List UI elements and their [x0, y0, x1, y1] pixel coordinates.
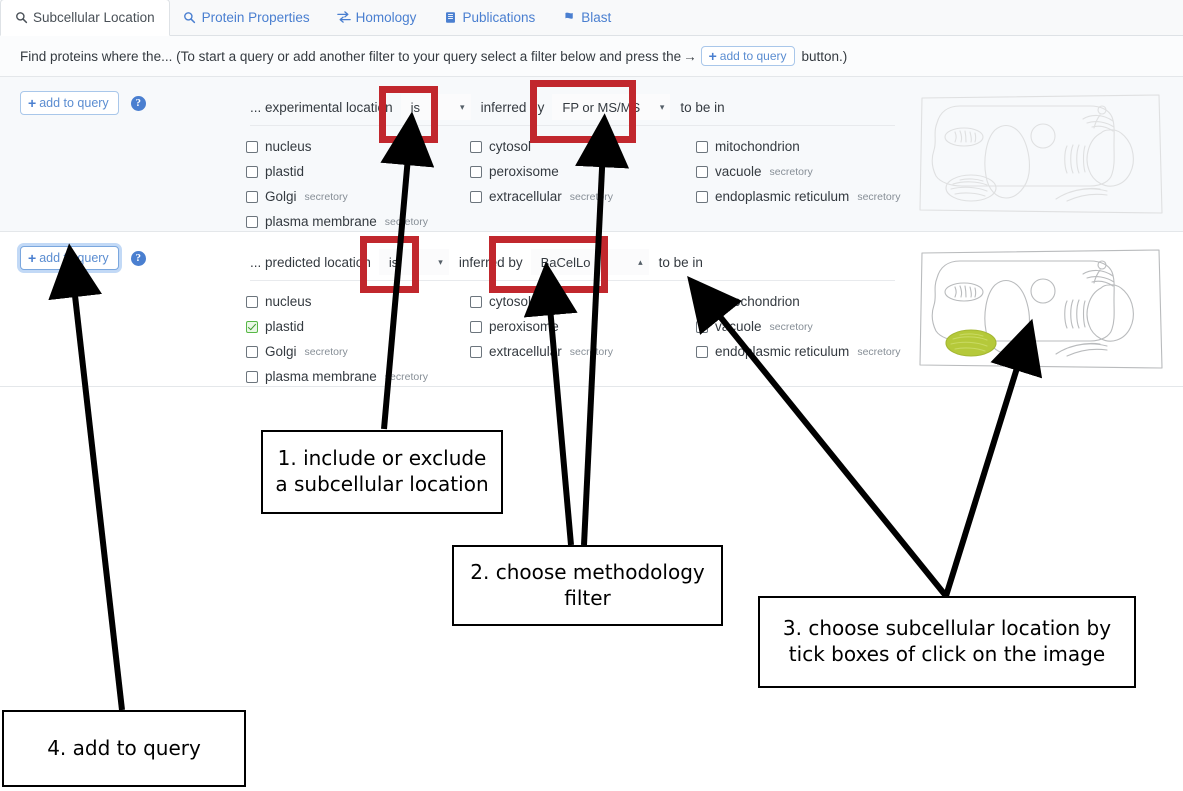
checkbox-column-1: nucleus plastid Golgisecretory plasma me… [246, 289, 428, 389]
search-icon [14, 11, 28, 25]
help-icon[interactable]: ? [131, 251, 146, 266]
checkbox-label: extracellular [489, 189, 562, 204]
checkbox-box[interactable] [246, 216, 258, 228]
inferred-by-label: inferred by [459, 255, 523, 270]
checkbox-plasma-membrane[interactable]: plasma membranesecretory [246, 209, 428, 234]
checkbox-label: nucleus [265, 294, 312, 309]
checkbox-label: vacuole [715, 319, 762, 334]
tab-label: Publications [462, 10, 535, 25]
checkbox-cytosol[interactable]: cytosol [470, 134, 613, 159]
row-divider [250, 280, 895, 281]
checkbox-label: plasma membrane [265, 369, 377, 384]
chevron-down-icon: ▾ [438, 258, 443, 267]
checkbox-label: plasma membrane [265, 214, 377, 229]
checkbox-label: Golgi [265, 189, 297, 204]
chevron-down-icon: ▾ [460, 103, 465, 112]
secondary-tag: secretory [305, 346, 348, 358]
secondary-tag: secretory [570, 191, 613, 203]
add-to-query-button-experimental[interactable]: + add to query [20, 91, 119, 115]
cell-diagram-experimental[interactable] [915, 89, 1167, 219]
filter-row-predicted-location: + add to query ? ... predicted location … [0, 232, 1183, 387]
callout-box-4: 4. add to query [2, 710, 246, 787]
arrow-callout-3b [946, 352, 1022, 596]
checkbox-box[interactable] [696, 141, 708, 153]
condition-lead-label: ... experimental location [250, 100, 393, 115]
checkbox-box[interactable] [696, 321, 708, 333]
search-icon [183, 10, 197, 24]
checkbox-label: endoplasmic reticulum [715, 189, 849, 204]
secondary-tag: secretory [305, 191, 348, 203]
checkbox-box[interactable] [470, 191, 482, 203]
checkbox-box[interactable] [246, 141, 258, 153]
add-to-query-label: add to query [39, 96, 109, 110]
checkbox-box[interactable] [246, 166, 258, 178]
query-instructions-bar: Find proteins where the... (To start a q… [0, 36, 1183, 77]
add-to-query-label: add to query [39, 251, 109, 265]
callout-box-1: 1. include or exclude a subcellular loca… [261, 430, 503, 514]
condition-lead-label: ... predicted location [250, 255, 371, 270]
checkbox-golgi[interactable]: Golgisecretory [246, 339, 428, 364]
tab-homology[interactable]: Homology [324, 0, 431, 35]
checkbox-peroxisome[interactable]: peroxisome [470, 314, 613, 339]
to-be-in-label: to be in [680, 100, 724, 115]
checkbox-label: peroxisome [489, 164, 559, 179]
checkbox-label: cytosol [489, 294, 531, 309]
plastid-highlight-shape [946, 330, 996, 356]
tab-bar: Subcellular Location Protein Properties … [0, 0, 1183, 36]
tab-label: Blast [581, 10, 611, 25]
checkbox-box[interactable] [696, 191, 708, 203]
help-icon[interactable]: ? [131, 96, 146, 111]
secondary-tag: secretory [385, 371, 428, 383]
secondary-tag: secretory [385, 216, 428, 228]
checkbox-vacuole[interactable]: vacuolesecretory [696, 159, 901, 184]
select-value: FP or MS/MS [562, 100, 640, 115]
to-be-in-label: to be in [659, 255, 703, 270]
checkbox-label: cytosol [489, 139, 531, 154]
checkbox-vacuole[interactable]: vacuolesecretory [696, 314, 901, 339]
checkbox-label: plastid [265, 319, 304, 334]
secondary-tag: secretory [570, 346, 613, 358]
checkbox-mitochondrion[interactable]: mitochondrion [696, 289, 901, 314]
checkbox-label: peroxisome [489, 319, 559, 334]
include-exclude-select-predicted[interactable]: is ▾ [379, 249, 449, 275]
secondary-tag: secretory [770, 321, 813, 333]
checkbox-endoplasmic-reticulum[interactable]: endoplasmic reticulumsecretory [696, 339, 901, 364]
tab-label: Homology [356, 10, 417, 25]
checkbox-plastid[interactable]: plastid [246, 314, 428, 339]
cell-diagram-predicted[interactable] [915, 244, 1167, 374]
checkbox-cytosol[interactable]: cytosol [470, 289, 613, 314]
inferred-by-label: inferred by [481, 100, 545, 115]
condition-line-predicted: ... predicted location is ▾ inferred by … [250, 249, 703, 275]
instructions-trailing-text: button.) [802, 49, 848, 64]
filter-row-experimental-location: + add to query ? ... experimental locati… [0, 77, 1183, 232]
checkbox-nucleus[interactable]: nucleus [246, 289, 428, 314]
checkbox-nucleus[interactable]: nucleus [246, 134, 428, 159]
checkbox-endoplasmic-reticulum[interactable]: endoplasmic reticulumsecretory [696, 184, 901, 209]
checkbox-box[interactable] [696, 296, 708, 308]
methodology-select-experimental[interactable]: FP or MS/MS ▾ [552, 94, 670, 120]
tab-publications[interactable]: Publications [430, 0, 549, 35]
exchange-icon [337, 10, 351, 24]
callout-box-2: 2. choose methodology filter [452, 545, 723, 626]
checkbox-box[interactable] [246, 321, 258, 333]
checkbox-column-3: mitochondrion vacuolesecretory endoplasm… [696, 134, 901, 209]
checkbox-box[interactable] [246, 346, 258, 358]
checkbox-column-2: cytosol peroxisome extracellularsecretor… [470, 134, 613, 209]
tab-protein-properties[interactable]: Protein Properties [170, 0, 324, 35]
plus-icon: + [28, 96, 36, 110]
plus-icon: + [709, 49, 717, 63]
checkbox-label: plastid [265, 164, 304, 179]
add-to-query-button-predicted[interactable]: + add to query [20, 246, 119, 270]
secondary-tag: secretory [857, 346, 900, 358]
row-divider [250, 125, 895, 126]
select-value: is [389, 255, 398, 270]
tab-label: Protein Properties [202, 10, 310, 25]
checkbox-plasma-membrane[interactable]: plasma membranesecretory [246, 364, 428, 389]
add-to-query-label: add to query [720, 49, 787, 63]
checkbox-box[interactable] [246, 371, 258, 383]
checkbox-label: Golgi [265, 344, 297, 359]
book-icon [443, 10, 457, 24]
right-arrow-glyph: → [683, 49, 697, 64]
secondary-tag: secretory [857, 191, 900, 203]
row-controls-experimental: + add to query ? [20, 91, 146, 115]
flag-icon [562, 10, 576, 24]
checkbox-mitochondrion[interactable]: mitochondrion [696, 134, 901, 159]
checkbox-label: nucleus [265, 139, 312, 154]
methodology-select-predicted[interactable]: BaCelLo ▴ [531, 249, 649, 275]
checkbox-column-2: cytosol peroxisome extracellularsecretor… [470, 289, 613, 364]
checkbox-box[interactable] [470, 346, 482, 358]
chevron-up-icon: ▴ [638, 258, 643, 267]
add-to-query-button-inline[interactable]: + add to query [701, 46, 795, 66]
checkbox-peroxisome[interactable]: peroxisome [470, 159, 613, 184]
checkbox-plastid[interactable]: plastid [246, 159, 428, 184]
checkbox-box[interactable] [246, 191, 258, 203]
checkbox-extracellular[interactable]: extracellularsecretory [470, 339, 613, 364]
checkbox-label: vacuole [715, 164, 762, 179]
checkbox-golgi[interactable]: Golgisecretory [246, 184, 428, 209]
checkbox-column-3: mitochondrion vacuolesecretory endoplasm… [696, 289, 901, 364]
tab-subcellular-location[interactable]: Subcellular Location [0, 0, 170, 36]
condition-line-experimental: ... experimental location is ▾ inferred … [250, 94, 725, 120]
include-exclude-select-experimental[interactable]: is ▾ [401, 94, 471, 120]
checkbox-label: extracellular [489, 344, 562, 359]
checkbox-label: mitochondrion [715, 139, 800, 154]
tab-label: Subcellular Location [33, 10, 155, 25]
checkbox-box[interactable] [470, 141, 482, 153]
tab-blast[interactable]: Blast [549, 0, 625, 35]
select-value: BaCelLo [541, 255, 591, 270]
checkbox-box[interactable] [470, 296, 482, 308]
callout-box-3: 3. choose subcellular location by tick b… [758, 596, 1136, 688]
checkbox-box[interactable] [696, 346, 708, 358]
checkbox-column-1: nucleus plastid Golgisecretory plasma me… [246, 134, 428, 234]
checkbox-label: mitochondrion [715, 294, 800, 309]
secondary-tag: secretory [770, 166, 813, 178]
select-value: is [411, 100, 420, 115]
checkbox-box[interactable] [470, 166, 482, 178]
checkbox-box[interactable] [696, 166, 708, 178]
plus-icon: + [28, 251, 36, 265]
checkbox-extracellular[interactable]: extracellularsecretory [470, 184, 613, 209]
row-controls-predicted: + add to query ? [20, 246, 146, 270]
checkbox-label: endoplasmic reticulum [715, 344, 849, 359]
chevron-down-icon: ▾ [660, 103, 665, 112]
checkbox-box[interactable] [470, 321, 482, 333]
instructions-text: Find proteins where the... (To start a q… [20, 49, 681, 64]
checkbox-box[interactable] [246, 296, 258, 308]
